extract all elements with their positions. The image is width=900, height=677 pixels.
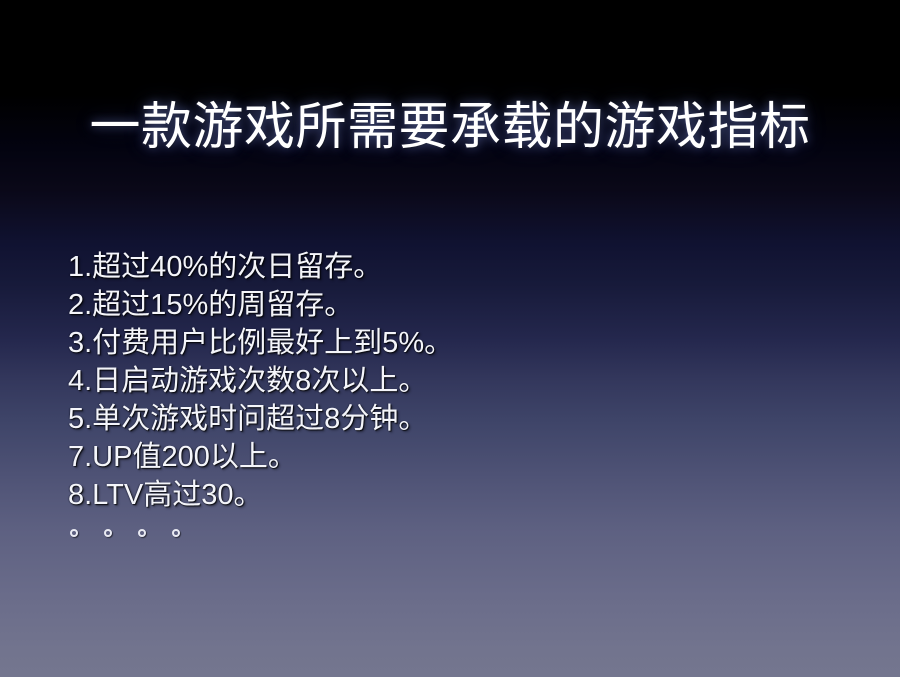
page-title: 一款游戏所需要承载的游戏指标 [89, 96, 810, 158]
list-item: 3.付费用户比例最好上到5%。 [68, 324, 848, 362]
ellipsis-dot-icon [172, 529, 180, 537]
ellipsis-row [68, 514, 848, 552]
list-item: 5.单次游戏时问超过8分钟。 [68, 400, 848, 438]
title-block: 一款游戏所需要承载的游戏指标 [0, 62, 900, 192]
slide-body-list: 1.超过40%的次日留存。 2.超过15%的周留存。 3.付费用户比例最好上到5… [68, 248, 848, 552]
list-item: 2.超过15%的周留存。 [68, 286, 848, 324]
ellipsis-dot-icon [104, 529, 112, 537]
ellipsis-dot-icon [70, 529, 78, 537]
list-item: 8.LTV高过30。 [68, 476, 848, 514]
list-item: 7.UP值200以上。 [68, 438, 848, 476]
ellipsis-dot-icon [138, 529, 146, 537]
list-item: 4.日启动游戏次数8次以上。 [68, 362, 848, 400]
presentation-slide: 一款游戏所需要承载的游戏指标 1.超过40%的次日留存。 2.超过15%的周留存… [0, 0, 900, 677]
list-item: 1.超过40%的次日留存。 [68, 248, 848, 286]
